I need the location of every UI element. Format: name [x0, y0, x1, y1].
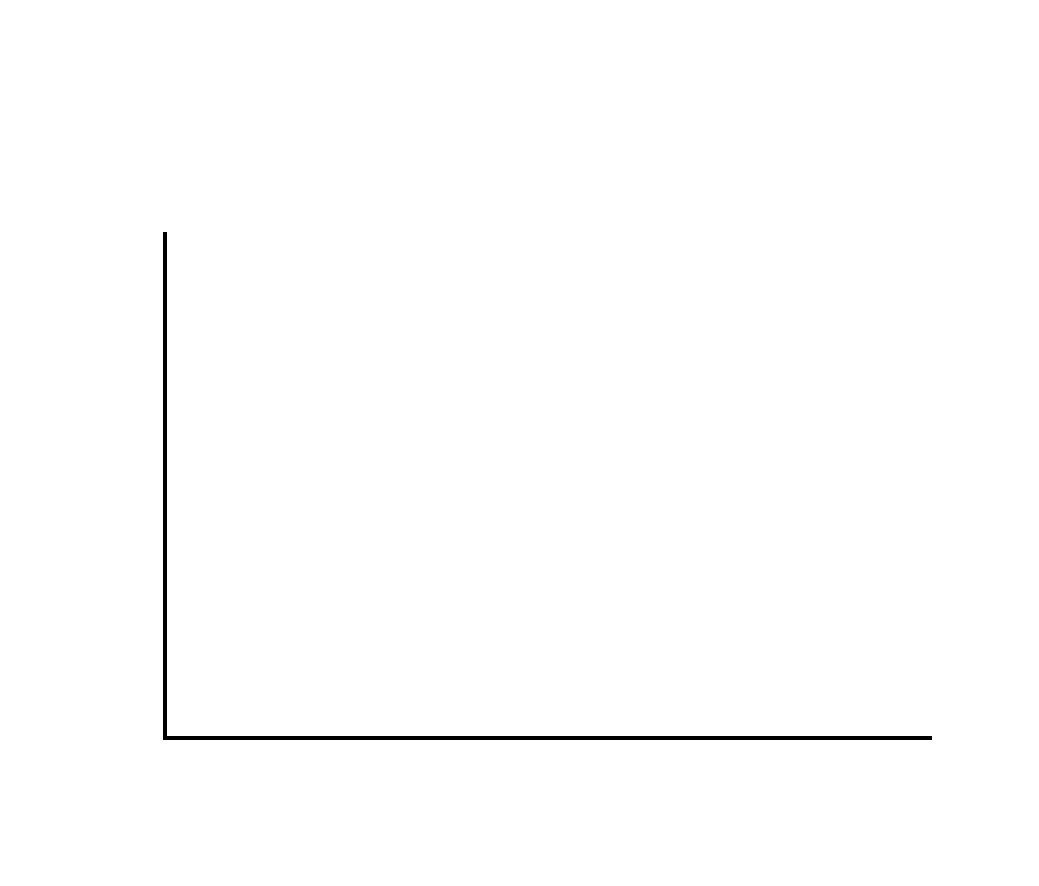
axis-spines: [165, 232, 932, 738]
plot-canvas: [0, 0, 1039, 886]
elisa-chart-figure: [0, 0, 1039, 886]
axes: [165, 232, 932, 738]
